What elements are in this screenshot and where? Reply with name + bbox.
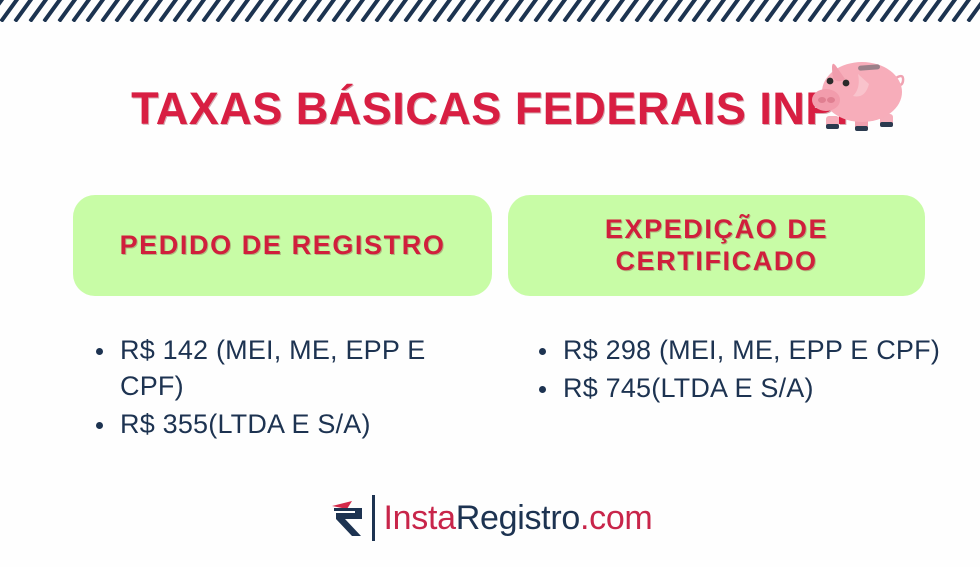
bullet-dot-icon — [539, 348, 546, 355]
bullet-dot-icon — [539, 386, 546, 393]
section-heading-label: PEDIDO DE REGISTRO — [120, 230, 446, 262]
price-list: R$ 298 (MEI, ME, EPP E CPF) R$ 745(LTDA … — [535, 333, 943, 407]
brand-logo-text: InstaRegistro.com — [384, 501, 653, 535]
section-heading-pedido-de-registro: PEDIDO DE REGISTRO — [73, 195, 492, 296]
brand-logo-part-com: .com — [580, 499, 652, 537]
list-item: R$ 745(LTDA E S/A) — [535, 371, 943, 407]
section-heading-expedicao-de-certificado: EXPEDIÇÃO DE CERTIFICADO — [508, 195, 925, 296]
list-item-label: R$ 298 (MEI, ME, EPP E CPF) — [563, 335, 940, 365]
list-item-label: R$ 142 (MEI, ME, EPP E CPF) — [120, 335, 426, 401]
instaregistro-r-mark-icon — [328, 495, 370, 541]
brand-logo-inner: InstaRegistro.com — [328, 495, 653, 541]
piggy-bank-icon — [800, 48, 910, 140]
list-item-label: R$ 745(LTDA E S/A) — [563, 373, 814, 403]
list-item: R$ 355(LTDA E S/A) — [92, 407, 492, 443]
section-heading-line-2: CERTIFICADO — [615, 246, 817, 276]
page-title: TAXAS BÁSICAS FEDERAIS INPI — [131, 86, 849, 131]
diagonal-stripe-band — [0, 0, 980, 22]
logo-divider — [372, 495, 375, 541]
brand-logo-part-registro: Registro — [456, 499, 580, 537]
list-item: R$ 142 (MEI, ME, EPP E CPF) — [92, 333, 492, 405]
list-item: R$ 298 (MEI, ME, EPP E CPF) — [535, 333, 943, 369]
section-heading-line-1: EXPEDIÇÃO DE — [605, 214, 828, 244]
price-column-expedicao-de-certificado: R$ 298 (MEI, ME, EPP E CPF) R$ 745(LTDA … — [535, 333, 943, 409]
list-item-label: R$ 355(LTDA E S/A) — [120, 409, 371, 439]
brand-logo[interactable]: InstaRegistro.com — [0, 492, 980, 544]
section-heading-label: EXPEDIÇÃO DE CERTIFICADO — [605, 214, 828, 278]
bullet-dot-icon — [96, 422, 103, 429]
price-list: R$ 142 (MEI, ME, EPP E CPF) R$ 355(LTDA … — [92, 333, 492, 443]
brand-logo-part-insta: Insta — [384, 499, 456, 537]
bullet-dot-icon — [96, 348, 103, 355]
poster-canvas: TAXAS BÁSICAS FEDERAIS INPI — [0, 0, 980, 567]
price-column-pedido-de-registro: R$ 142 (MEI, ME, EPP E CPF) R$ 355(LTDA … — [92, 333, 492, 445]
